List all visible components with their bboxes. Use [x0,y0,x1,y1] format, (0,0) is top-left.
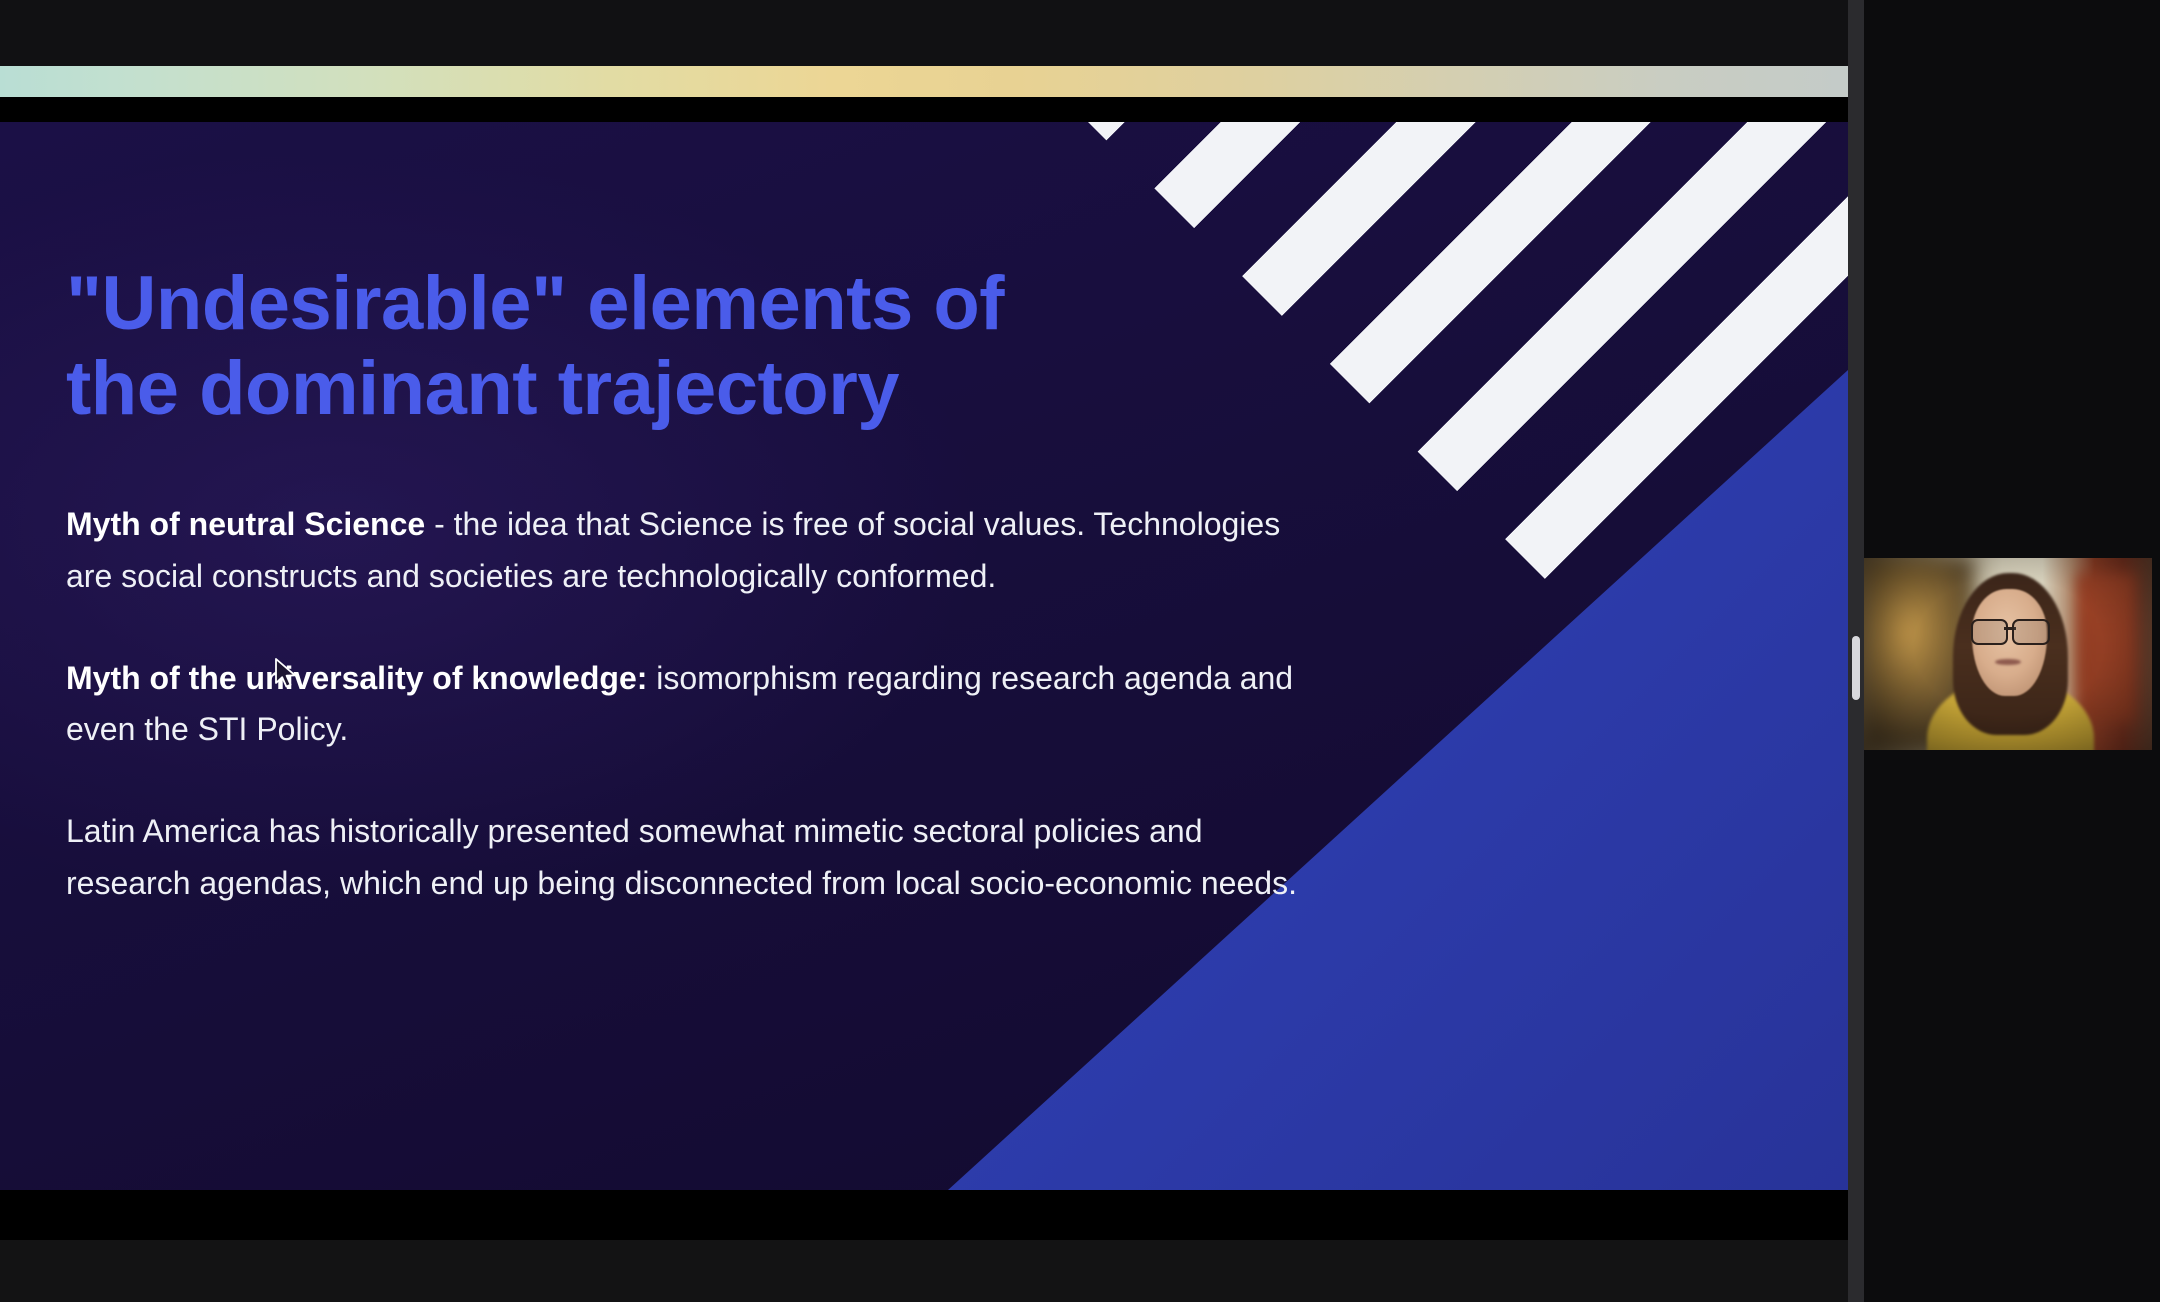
stage-footer-strip [0,1240,1848,1302]
stage-lower-black-band [0,1190,1848,1240]
speaker-video-tile[interactable] [1864,558,2152,750]
slide-accent-gradient-bar [0,66,1848,97]
presentation-slide[interactable]: "Undesirable" elements of the dominant t… [0,122,1848,1190]
slide-body: Myth of neutral Science - the idea that … [66,499,1331,910]
stage-upper-black-band [0,97,1848,122]
slide-paragraph-1: Myth of neutral Science - the idea that … [66,499,1331,603]
paragraph-2-lead: Myth of the universality of knowledge: [66,660,647,696]
webcam-vignette [1864,558,2152,750]
shared-screen-stage[interactable]: "Undesirable" elements of the dominant t… [0,0,1848,1302]
stage-top-letterbox [0,0,1848,66]
panel-resize-handle[interactable] [1852,636,1860,700]
panel-splitter[interactable] [1848,0,1864,1302]
webcam-video [1864,558,2152,750]
meeting-window: "Undesirable" elements of the dominant t… [0,0,2160,1302]
participants-rail[interactable] [1864,0,2160,1302]
paragraph-3-text: Latin America has historically presented… [66,813,1297,901]
paragraph-1-lead: Myth of neutral Science [66,506,425,542]
slide-content: "Undesirable" elements of the dominant t… [66,122,1396,1190]
slide-title: "Undesirable" elements of the dominant t… [66,261,1316,431]
slide-paragraph-3: Latin America has historically presented… [66,806,1331,910]
slide-paragraph-2: Myth of the universality of knowledge: i… [66,653,1331,757]
